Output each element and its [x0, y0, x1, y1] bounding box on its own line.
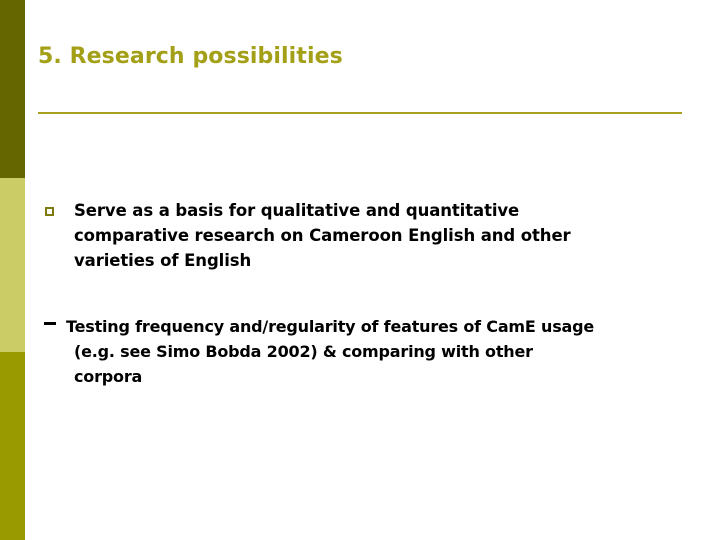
hollow-square-bullet-icon: [45, 207, 54, 216]
dash-bullet-icon: [44, 322, 56, 325]
bullet-item: Testing frequency and/regularity of feat…: [40, 314, 690, 389]
bullet-line: comparative research on Cameroon English…: [74, 223, 690, 248]
bullet-line: (e.g. see Simo Bobda 2002) & comparing w…: [70, 339, 690, 364]
bullet-line: Serve as a basis for qualitative and qua…: [74, 198, 690, 223]
slide-body: Serve as a basis for qualitative and qua…: [0, 0, 720, 540]
bullet-line: varieties of English: [74, 248, 690, 273]
bullet-line: Testing frequency and/regularity of feat…: [70, 314, 690, 339]
bullet-text: Serve as a basis for qualitative and qua…: [74, 198, 690, 273]
bullet-line: corpora: [70, 364, 690, 389]
slide-canvas: 5. Research possibilities Serve as a bas…: [0, 0, 720, 540]
bullet-item: Serve as a basis for qualitative and qua…: [40, 198, 690, 273]
bullet-text: Testing frequency and/regularity of feat…: [70, 314, 690, 389]
